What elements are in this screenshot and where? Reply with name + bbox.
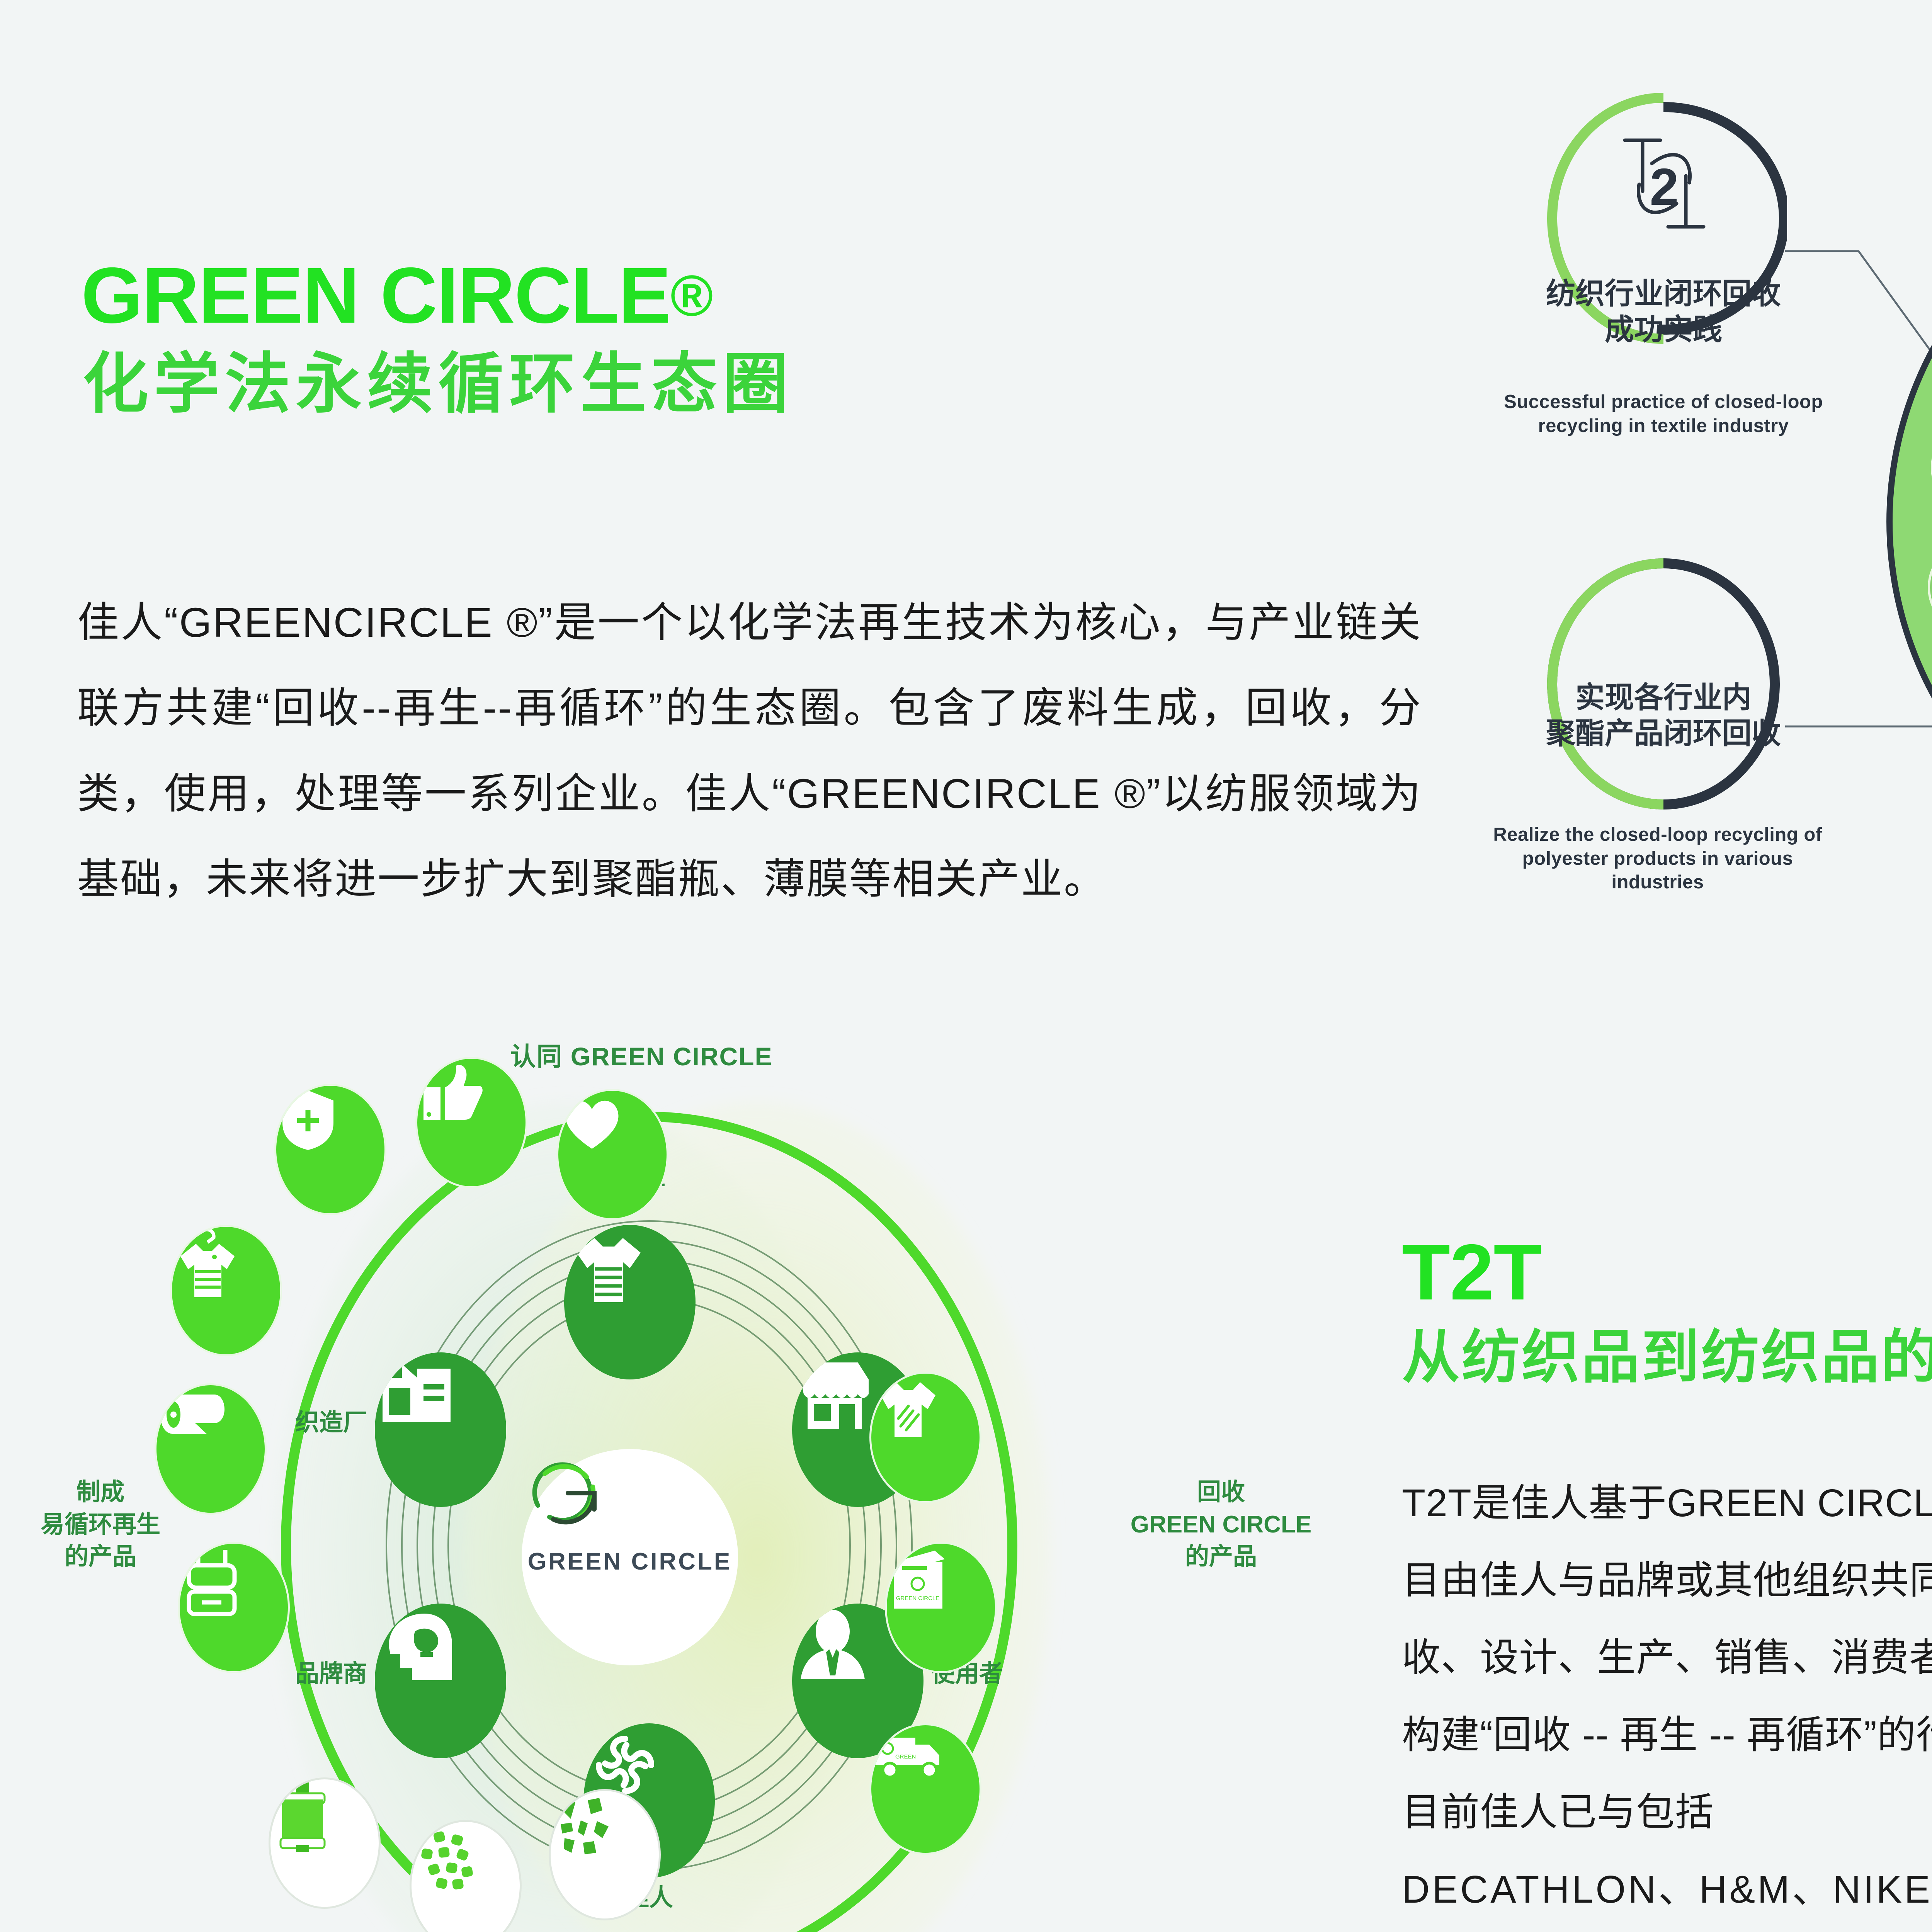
eco-node-garment-factory[interactable] <box>564 1225 696 1379</box>
badge-polyester-caption-line1: Realize the closed-loop recycling of <box>1484 823 1832 847</box>
svg-text:2: 2 <box>1650 158 1679 216</box>
t2t-logo-icon: 2 <box>1606 126 1722 241</box>
green-circle-system-diagram: 永续循环系统 GREEN CIRCLE 佳人化学法 再生技术 Jiaren ch… <box>1882 151 1932 893</box>
tshirt-hanger-icon <box>172 1227 240 1302</box>
heart-icon <box>558 1091 626 1155</box>
t2t-paragraph-line-7: QS、KMART在内的众多品牌商深度推进T2T项目合作。 <box>1402 1928 1932 1932</box>
eco-node-brand-owner[interactable] <box>375 1604 506 1758</box>
shield-plus-icon <box>276 1086 340 1153</box>
user-person-icon <box>792 1604 873 1685</box>
eco-outer-thumbs-up[interactable] <box>415 1057 527 1188</box>
eco-label-right: 回收 GREEN CIRCLE 的产品 <box>1101 1476 1341 1573</box>
eco-label-top: 认同 GREEN CIRCLE <box>371 1039 912 1074</box>
head-idea-icon <box>375 1604 460 1689</box>
eco-outer-collection-box[interactable]: GREEN CIRCLE <box>885 1542 997 1673</box>
t2t-paragraph: T2T是佳人基于GREEN CIRCLE体系内的特定项目，该项 目由佳人与品牌或… <box>1402 1464 1932 1932</box>
t2t-title: T2T <box>1402 1233 1541 1312</box>
page-title-text: GREEN CIRCLE <box>81 251 670 340</box>
eco-label-left: 制成 易循环再生 的产品 <box>4 1476 197 1573</box>
badge-polyester-label: 实现各行业内 聚酯产品闭环回收 <box>1540 680 1787 752</box>
collection-box-icon: GREEN CIRCLE <box>887 1544 951 1615</box>
eco-outer-tshirt-worn[interactable] <box>869 1372 981 1503</box>
t2t-paragraph-line-6: DECATHLON、H&M、NIKE、PUMA、ADIDAS、INDITEX、 <box>1402 1851 1932 1928</box>
t2t-subtitle: 从纺织品到纺织品的永续循环 <box>1402 1325 1932 1389</box>
green-system-rings <box>1882 151 1932 893</box>
eco-center-logo-text: GREEN CIRCLE <box>528 1548 732 1575</box>
badge-polyester-label-line2: 聚酯产品闭环回收 <box>1540 716 1787 752</box>
tshirt-worn-icon <box>871 1374 939 1441</box>
intro-paragraph: 佳人“GREENCIRCLE ®”是一个以化学法再生技术为核心，与产业链关联方共… <box>77 580 1422 922</box>
badge-polyester-label-line1: 实现各行业内 <box>1540 680 1787 716</box>
flakes-icon <box>551 1791 620 1861</box>
eco-outer-tshirt-hanger[interactable] <box>170 1225 282 1356</box>
storefront-icon <box>792 1352 877 1437</box>
eco-outer-heart[interactable] <box>556 1089 668 1220</box>
fabric-roll-icon <box>156 1385 228 1443</box>
eco-wheel-diagram: 成衣厂 卖场 使用者 佳人 <box>100 1043 1306 1932</box>
page-title: GREEN CIRCLE® <box>81 255 713 336</box>
badge-polyester-closed-loop: 实现各行业内 聚酯产品闭环回收 <box>1540 553 1787 815</box>
eco-node-weaving-mill[interactable] <box>375 1352 506 1507</box>
t2t-paragraph-line-1: T2T是佳人基于GREEN CIRCLE体系内的特定项目，该项 <box>1402 1464 1932 1542</box>
badge-textile-label-line1: 纺织行业闭环回收 <box>1540 276 1787 312</box>
recycle-truck-icon: GREEN <box>871 1725 945 1783</box>
eco-center-logo: GREEN CIRCLE <box>522 1449 738 1665</box>
t2t-paragraph-line-4: 构建“回收 -- 再生 -- 再循环”的行业内闭环. <box>1402 1696 1932 1774</box>
green-circle-logo-icon <box>522 1449 611 1538</box>
badge-textile-label-line2: 成功实践 <box>1540 312 1787 348</box>
badge-polyester-caption-line2: polyester products in various industries <box>1484 847 1832 895</box>
svg-text:GREEN CIRCLE: GREEN CIRCLE <box>896 1595 940 1602</box>
eco-outer-flakes[interactable] <box>549 1789 661 1920</box>
t2t-paragraph-line-2: 目由佳人与品牌或其他组织共同策划和携手，协同回 <box>1402 1542 1932 1619</box>
t2t-paragraph-line-5: 目前佳人已与包括 <box>1402 1774 1932 1851</box>
pellets-icon <box>412 1822 481 1891</box>
page-subtitle: 化学法永续循环生态圈 <box>83 350 794 419</box>
factory-icon <box>375 1352 460 1430</box>
svg-text:GREEN: GREEN <box>895 1753 916 1760</box>
eco-outer-yarn-spool[interactable] <box>269 1777 381 1909</box>
badge-textile-label: 纺织行业闭环回收 成功实践 <box>1540 276 1787 348</box>
eco-outer-shield[interactable] <box>274 1084 386 1215</box>
badge-textile-closed-loop: 2 纺织行业闭环回收 成功实践 <box>1540 87 1787 350</box>
yarn-spool-icon <box>270 1779 334 1855</box>
eco-outer-recycle-truck[interactable]: GREEN <box>869 1723 981 1855</box>
registered-mark-icon: ® <box>670 263 713 328</box>
tshirt-striped-icon <box>564 1225 653 1314</box>
badge-polyester-caption: Realize the closed-loop recycling of pol… <box>1484 823 1832 895</box>
t2t-paragraph-line-3: 收、设计、生产、销售、消费者等产业链相关方，共同 <box>1402 1619 1932 1696</box>
